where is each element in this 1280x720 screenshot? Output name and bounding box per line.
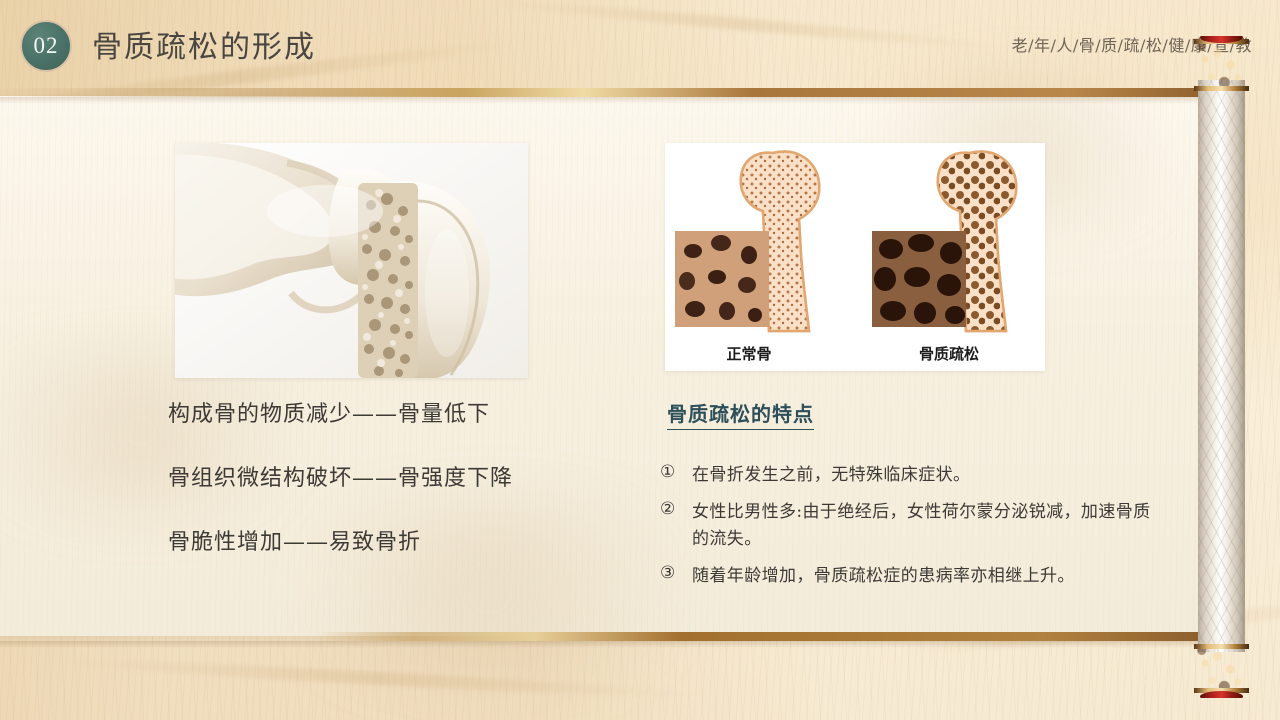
page-title: 骨质疏松的形成 — [92, 22, 316, 66]
gold-divider-top — [0, 88, 1215, 97]
list-item: ① 在骨折发生之前，无特殊临床症状。 — [660, 462, 1160, 490]
cap-jewel-red — [1200, 691, 1243, 698]
left-text-block: 构成骨的物质减少——骨量低下 骨组织微结构破坏——骨强度下降 骨脆性增加——易致… — [168, 396, 618, 588]
list-item-text: 女性比男性多:由于绝经后，女性荷尔蒙分泌锐减，加速骨质的流失。 — [692, 499, 1160, 554]
gold-divider-bottom — [0, 632, 1215, 641]
section-number-label: 02 — [34, 33, 59, 59]
osteoporotic-trabecula-inset — [872, 231, 966, 327]
gold-divider-top-shadow — [0, 97, 1215, 104]
left-text-line-2: 骨组织微结构破坏——骨强度下降 — [168, 460, 618, 492]
list-item-marker: ② — [660, 499, 692, 554]
right-section-heading: 骨质疏松的特点 — [667, 398, 814, 430]
gold-divider-bottom-shadow — [0, 641, 1215, 648]
femur-comparison-svg — [665, 143, 1045, 343]
diagram-label-osteoporosis: 骨质疏松 — [889, 343, 1009, 364]
cap-ring — [1194, 86, 1249, 91]
list-item: ③ 随着年龄增加，骨质疏松症的患病率亦相继上升。 — [660, 563, 1160, 591]
normal-trabecula-inset — [675, 231, 769, 327]
scroll-rod-cap-bottom — [1194, 640, 1249, 698]
bone-comparison-diagram: 正常骨 骨质疏松 — [665, 143, 1045, 371]
hip-bone-photo — [175, 143, 528, 378]
list-item: ② 女性比男性多:由于绝经后，女性荷尔蒙分泌锐减，加速骨质的流失。 — [660, 499, 1160, 554]
list-item-text: 随着年龄增加，骨质疏松症的患病率亦相继上升。 — [692, 563, 1075, 591]
diagram-label-normal: 正常骨 — [689, 343, 809, 364]
scroll-rod-cap-top — [1194, 36, 1249, 94]
list-item-text: 在骨折发生之前，无特殊临床症状。 — [692, 462, 970, 490]
section-number-badge: 02 — [20, 20, 72, 72]
slide-header: 02 骨质疏松的形成 老/年/人/骨/质/疏/松/健/康/宣/教 — [0, 0, 1280, 88]
list-item-marker: ③ — [660, 563, 692, 591]
characteristics-list: ① 在骨折发生之前，无特殊临床症状。 ② 女性比男性多:由于绝经后，女性荷尔蒙分… — [660, 462, 1160, 599]
hip-bone-illustration — [175, 143, 528, 378]
left-text-line-3: 骨脆性增加——易致骨折 — [168, 524, 618, 556]
scroll-rod-weave-texture — [1198, 80, 1245, 652]
slide-canvas: 02 骨质疏松的形成 老/年/人/骨/质/疏/松/健/康/宣/教 — [0, 0, 1280, 720]
list-item-marker: ① — [660, 462, 692, 490]
cap-ring — [1194, 644, 1249, 649]
left-text-line-1: 构成骨的物质减少——骨量低下 — [168, 396, 618, 428]
scroll-rod-right — [1198, 28, 1245, 700]
scroll-rod-shaft — [1198, 80, 1245, 652]
